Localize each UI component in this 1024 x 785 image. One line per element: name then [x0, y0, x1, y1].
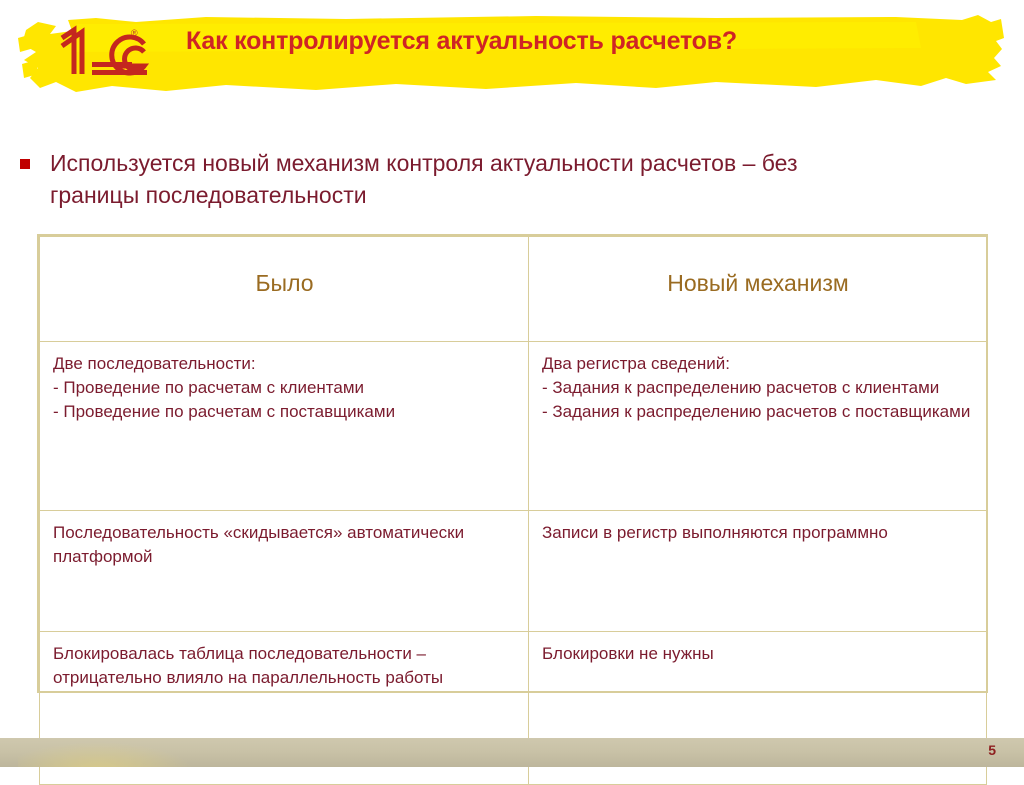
square-bullet-icon	[20, 159, 30, 169]
cell-before-1: Две последовательности: - Проведение по …	[40, 342, 529, 511]
page-title: Как контролируется актуальность расчетов…	[186, 28, 886, 55]
table-row: Две последовательности: - Проведение по …	[40, 342, 987, 511]
table-header-row: Было Новый механизм	[40, 237, 987, 342]
slide-header: ® Как контролируется актуальность расчет…	[0, 0, 1024, 110]
page-number: 5	[988, 743, 996, 757]
comparison-table: Было Новый механизм Две последовательнос…	[37, 234, 988, 693]
bullet-paragraph: Используется новый механизм контроля акт…	[20, 148, 980, 211]
column-header-before: Было	[40, 237, 529, 342]
cell-new-2: Записи в регистр выполняются программно	[529, 511, 987, 632]
footer-watermark	[18, 738, 208, 767]
slide-footer: 5	[0, 738, 1024, 767]
table-row: Последовательность «скидывается» автомат…	[40, 511, 987, 632]
cell-before-2: Последовательность «скидывается» автомат…	[40, 511, 529, 632]
registered-trademark-icon: ®	[131, 29, 138, 38]
bullet-text: Используется новый механизм контроля акт…	[50, 148, 890, 211]
cell-new-1: Два регистра сведений: - Задания к распр…	[529, 342, 987, 511]
column-header-new-mechanism: Новый механизм	[529, 237, 987, 342]
slide: ® Как контролируется актуальность расчет…	[0, 0, 1024, 767]
